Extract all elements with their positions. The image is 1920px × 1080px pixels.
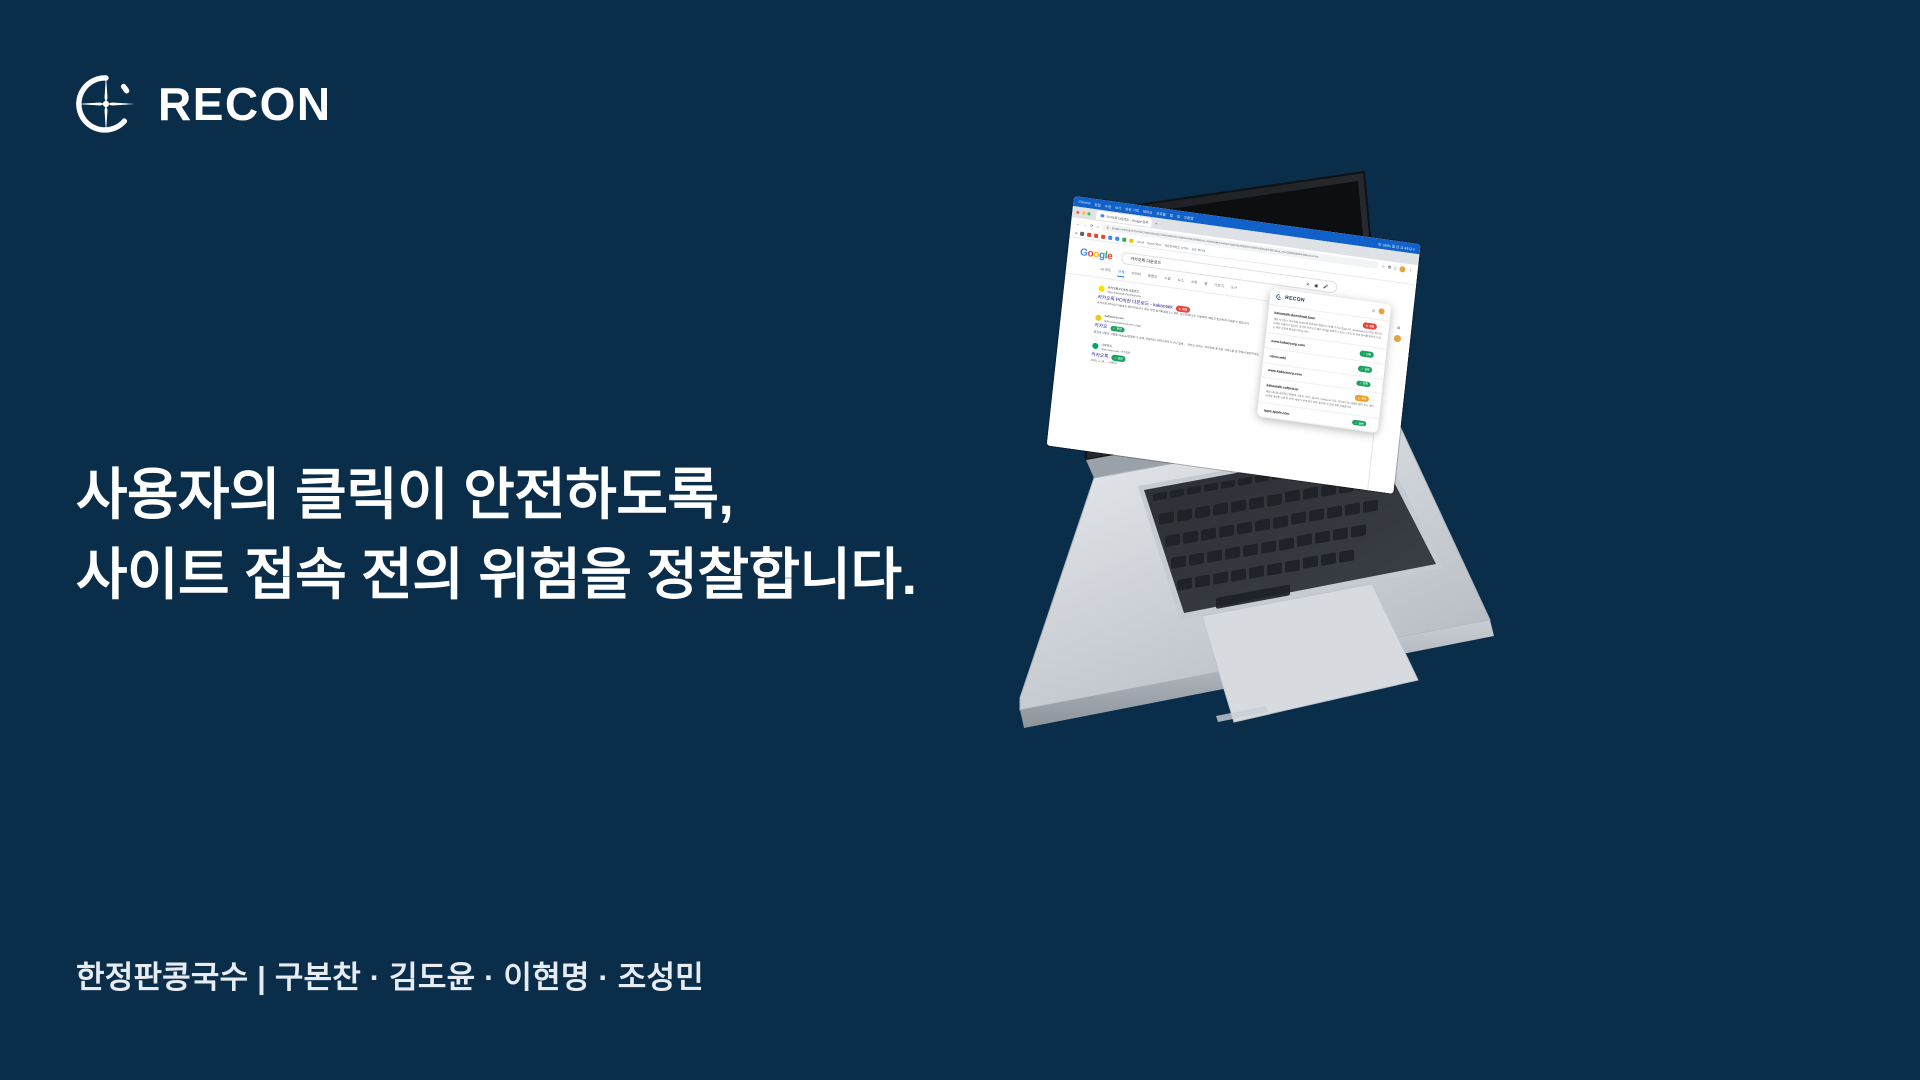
tab-images[interactable]: 이미지 [1131, 270, 1141, 279]
headline-line-1: 사용자의 클릭이 안전하도록, [76, 455, 917, 535]
check-icon: ✓ [1355, 421, 1358, 425]
split-view-icon[interactable]: ⧉ [1397, 325, 1400, 330]
browser-window: Chrome 파일 수정 보기 방문 기록 북마크 프로필 탭 창 도움말 한 … [1047, 196, 1421, 494]
crosshair-reticle-icon [1276, 294, 1283, 301]
popup-status-badge: ✓ 안전 [1356, 380, 1371, 388]
popup-status-badge: ✓ 안전 [1359, 351, 1374, 359]
bookmark-label-3[interactable]: 의문항목있는 사이트 [1164, 243, 1188, 250]
camera-lens-icon[interactable]: ▣ [1314, 282, 1318, 288]
badge-label: 안전 [1366, 352, 1371, 357]
page-title: 사용자의 클릭이 안전하도록, 사이트 접속 전의 위험을 정찰합니다. [76, 455, 917, 614]
bookmark-icon-2[interactable] [1094, 234, 1098, 239]
bookmark-label-0[interactable]: 모든 북마크 [1191, 247, 1205, 253]
forward-icon[interactable]: → [1083, 222, 1088, 228]
bookmark-icon-6[interactable] [1122, 238, 1126, 243]
menubar-item-8[interactable]: 도움말 [1184, 214, 1194, 220]
check-icon: ✓ [1361, 366, 1364, 370]
bookmark-icon-7[interactable] [1129, 238, 1133, 243]
maximize-window-icon[interactable] [1087, 212, 1091, 216]
danger-icon: ⊘ [1366, 323, 1369, 327]
chevron-up-icon[interactable]: ⌃ [1380, 325, 1383, 329]
menubar-item-7[interactable]: 창 [1177, 213, 1181, 218]
microphone-icon[interactable]: 🎤 [1323, 283, 1329, 289]
menubar-item-6[interactable]: 탭 [1170, 212, 1174, 217]
user-avatar-icon[interactable] [1378, 308, 1385, 315]
bookmark-folder-icon[interactable] [1080, 232, 1084, 237]
bookmark-label-1[interactable]: Gmail [1136, 239, 1144, 244]
close-window-icon[interactable] [1076, 211, 1080, 215]
team-credits: 한정판콩국수 | 구본찬 · 김도윤 · 이현명 · 조성민 [76, 952, 704, 997]
menubar-item-3[interactable]: 방문 기록 [1125, 206, 1139, 213]
bookmark-icon-3[interactable] [1101, 235, 1105, 240]
google-favicon [1101, 214, 1105, 218]
menubar-item-5[interactable]: 프로필 [1156, 210, 1166, 216]
close-icon[interactable]: ✕ [1306, 281, 1310, 286]
profile-avatar-icon[interactable] [1399, 265, 1406, 272]
bookmark-label-2[interactable]: Sport Other [1147, 241, 1162, 247]
sidepanel-icon[interactable]: ▯ [1394, 265, 1397, 270]
gear-icon[interactable]: ⚙ [1372, 307, 1376, 313]
tab-news[interactable]: 뉴스 [1177, 277, 1184, 286]
recon-status-badge[interactable]: ✓ 안전 [1110, 325, 1125, 333]
bookmark-star-icon[interactable]: ☆ [1381, 263, 1385, 269]
brand-name: RECON [158, 81, 332, 127]
home-icon[interactable]: ⌂ [1096, 224, 1099, 229]
popup-status-badge: ✓ 안전 [1358, 365, 1373, 373]
menubar-item-4[interactable]: 북마크 [1143, 208, 1153, 214]
tab-ai-mode[interactable]: AI 모드 [1100, 266, 1111, 275]
new-tab-button[interactable]: + [1155, 221, 1158, 226]
chevron-down-icon[interactable]: ⌄ [1377, 354, 1380, 358]
badge-label: 안전 [1358, 421, 1363, 426]
popup-status-badge: ⊘ 위험 [1363, 322, 1378, 330]
danger-icon: ⊘ [1178, 307, 1181, 311]
badge-label: 안전 [1116, 327, 1121, 332]
lock-icon: 🔒 [1106, 226, 1110, 229]
warning-icon: ⚠ [1358, 396, 1361, 400]
tab-tools[interactable]: 도구 [1230, 284, 1237, 293]
browser-menu-icon[interactable]: ⋮ [1408, 267, 1413, 273]
reload-icon[interactable]: ⟳ [1090, 223, 1094, 228]
headline-line-2: 사이트 접속 전의 위험을 정찰합니다. [76, 535, 917, 615]
tab-all[interactable]: 전체 [1118, 269, 1125, 278]
chevron-down-icon[interactable]: ⌄ [1372, 398, 1375, 402]
badge-label: 안전 [1364, 367, 1369, 372]
tab-videos[interactable]: 동영상 [1147, 273, 1157, 282]
chevron-down-icon[interactable]: ⌄ [1369, 423, 1372, 427]
popup-status-badge: ⚠ 주의 [1354, 395, 1369, 403]
badge-label: 위험 [1182, 307, 1187, 312]
check-icon: ✓ [1359, 381, 1362, 385]
site-favicon [1095, 314, 1102, 321]
site-favicon [1098, 285, 1105, 292]
site-favicon [1092, 343, 1099, 350]
menubar-app-name: Chrome [1078, 200, 1091, 206]
menubar-item-0[interactable]: 파일 [1094, 201, 1101, 207]
tab-social[interactable]: 소셜 [1164, 275, 1171, 284]
check-icon: ✓ [1113, 326, 1116, 330]
badge-label: 주의 [1361, 396, 1366, 401]
window-controls[interactable] [1076, 211, 1091, 216]
back-icon[interactable]: ← [1076, 221, 1081, 227]
user-avatar-icon[interactable] [1394, 335, 1402, 343]
check-icon: ✓ [1363, 352, 1366, 356]
minimize-window-icon[interactable] [1082, 211, 1086, 215]
slide-root: RECON 사용자의 클릭이 안전하도록, 사이트 접속 전의 위험을 정찰합니… [0, 0, 1920, 1080]
tab-more[interactable]: 더보기 [1214, 282, 1224, 291]
brand-lockup: RECON [74, 72, 332, 136]
badge-label: 안전 [1363, 382, 1368, 387]
check-icon: ✓ [1114, 356, 1117, 360]
crosshair-reticle-icon [74, 72, 138, 136]
bookmark-icon-4[interactable] [1108, 236, 1112, 241]
popup-status-badge: ✓ 안전 [1352, 419, 1367, 427]
extensions-puzzle-icon[interactable]: ⛃ [1388, 264, 1392, 269]
badge-label: 안전 [1118, 356, 1123, 361]
menubar-item-1[interactable]: 수정 [1105, 203, 1112, 209]
recon-extension-popup: RECON ⚙ kakaotalk-download.boor ⊘ 위험 ⌃ [1257, 288, 1392, 434]
tab-web[interactable]: 웹 [1204, 281, 1208, 289]
laptop-screen: Chrome 파일 수정 보기 방문 기록 북마크 프로필 탭 창 도움말 한 … [1047, 196, 1421, 494]
bookmark-icon-5[interactable] [1115, 237, 1119, 242]
apps-grid-icon[interactable]: ⊞ [1075, 231, 1078, 235]
chevron-down-icon[interactable]: ⌄ [1374, 383, 1377, 387]
chevron-down-icon[interactable]: ⌄ [1375, 368, 1378, 372]
result-title-link[interactable]: 카카오 [1094, 323, 1107, 331]
menubar-item-2[interactable]: 보기 [1115, 204, 1122, 210]
bookmark-icon-1[interactable] [1087, 233, 1091, 238]
badge-label: 위험 [1369, 324, 1374, 329]
tab-shopping[interactable]: 쇼핑 [1190, 279, 1197, 288]
